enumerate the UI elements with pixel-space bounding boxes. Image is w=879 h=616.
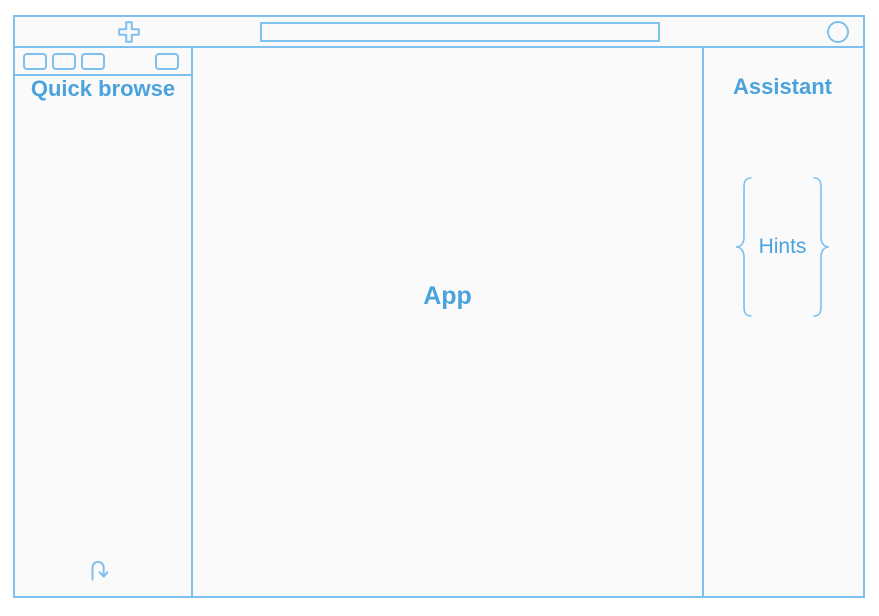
plus-icon: [117, 20, 141, 44]
sidebar: Quick browse: [13, 48, 193, 598]
sidebar-title: Quick browse: [15, 74, 191, 103]
sidebar-item-tab-2[interactable]: [52, 53, 76, 70]
search-input[interactable]: [260, 22, 660, 42]
new-button[interactable]: [15, 17, 243, 46]
hints-label: Hints: [755, 235, 811, 259]
app-label: App: [423, 282, 472, 311]
left-brace-icon: [733, 176, 755, 318]
sidebar-item-tab-4[interactable]: [155, 53, 179, 70]
sidebar-footer[interactable]: [15, 550, 191, 590]
top-bar: [13, 15, 865, 48]
sidebar-item-tab-1[interactable]: [23, 53, 47, 70]
right-brace-icon: [810, 176, 832, 318]
avatar-circle-icon[interactable]: [827, 21, 849, 43]
wireframe-window: Quick browse App Assistant Hints: [13, 15, 865, 598]
u-turn-icon: [87, 557, 113, 583]
assistant-panel: Assistant Hints: [704, 48, 865, 598]
assistant-title: Assistant: [704, 74, 861, 100]
sidebar-tab-bar: [15, 48, 191, 76]
sidebar-item-tab-3[interactable]: [81, 53, 105, 70]
body-region: Quick browse App Assistant Hints: [13, 48, 865, 598]
hints-block: Hints: [716, 176, 849, 318]
app-canvas: App: [193, 48, 704, 598]
